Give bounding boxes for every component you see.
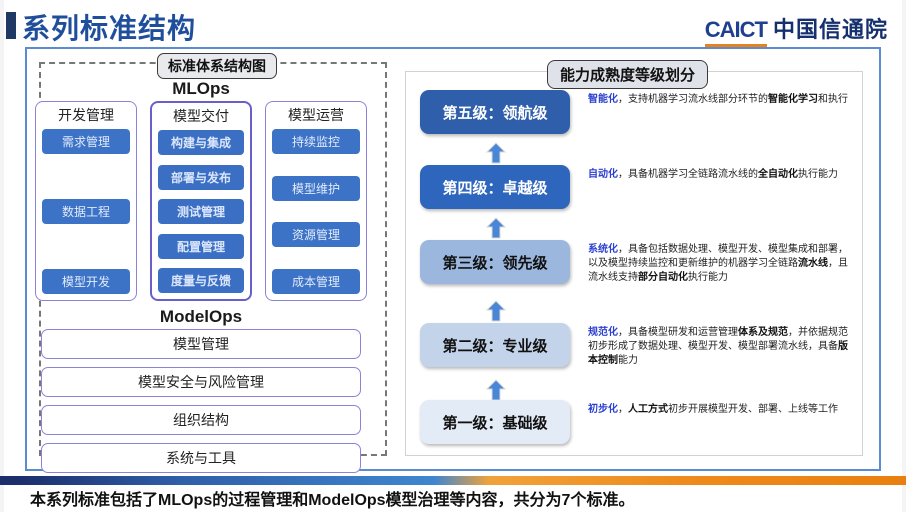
level-keyword: 智能化 [588, 94, 618, 105]
maturity-level-row-1: 第一级：基础级 初步化，人工方式初步开展模型开发、部署、上线等工作 [406, 400, 864, 444]
maturity-level-row-5: 第五级：领航级 智能化，支持机器学习流水线部分环节的智能化学习和执行 [406, 90, 864, 134]
level-desc-emph: 人工方式 [628, 404, 668, 415]
level-box-4[interactable]: 第四级：卓越级 [420, 165, 570, 209]
level-description-5: 智能化，支持机器学习流水线部分环节的智能化学习和执行 [588, 90, 850, 107]
column-title: 模型交付 [173, 106, 229, 126]
maturity-level-row-3: 第三级：领先级 系统化，具备包括数据处理、模型开发、模型集成和部署，以及模型持续… [406, 240, 864, 286]
chip-item[interactable]: 构建与集成 [158, 130, 244, 155]
column-title: 开发管理 [58, 105, 114, 125]
maturity-level-row-2: 第二级：专业级 规范化，具备模型研发和运营管理体系及规范，并依据规范初步形成了数… [406, 323, 864, 369]
content-frame: 标准体系结构图 MLOps 开发管理 需求管理 数据工程 模型开发 模型交付 构… [25, 47, 881, 471]
level-keyword: 规范化 [588, 327, 618, 338]
level-description-3: 系统化，具备包括数据处理、模型开发、模型集成和部署，以及模型持续监控和更新维护的… [588, 240, 850, 286]
level-keyword: 初步化 [588, 404, 618, 415]
logo-abbr-text: CAICT [705, 17, 767, 47]
title-accent-bar [6, 12, 16, 39]
level-box-1[interactable]: 第一级：基础级 [420, 400, 570, 444]
level-box-3[interactable]: 第三级：领先级 [420, 240, 570, 284]
chip-item[interactable]: 需求管理 [42, 129, 130, 154]
chip-item[interactable]: 度量与反馈 [158, 268, 244, 293]
level-desc-part: ，支持机器学习流水线部分环节的 [618, 94, 768, 105]
page-title: 系列标准结构 [22, 7, 196, 47]
mlops-section-title: MLOps [27, 79, 375, 99]
level-desc-part: ，具备机器学习全链路流水线的 [618, 169, 758, 180]
level-desc-emph2: 部分自动化 [638, 272, 688, 283]
level-keyword: 自动化 [588, 169, 618, 180]
level-description-4: 自动化，具备机器学习全链路流水线的全自动化执行能力 [588, 165, 850, 182]
logo-chinese-text: 中国信通院 [773, 12, 888, 44]
slide-right-edge [902, 0, 906, 512]
column-items: 构建与集成 部署与发布 测试管理 配置管理 度量与反馈 [158, 130, 244, 293]
column-title: 模型运营 [288, 105, 344, 125]
level-desc-emph: 全自动化 [758, 169, 798, 180]
chip-item[interactable]: 配置管理 [158, 234, 244, 259]
chip-item[interactable]: 模型开发 [42, 269, 130, 294]
level-desc-part: 初步开展模型开发、部署、上线等工作 [668, 404, 838, 415]
standard-system-diagram-caption: 标准体系结构图 [157, 53, 277, 79]
level-box-2[interactable]: 第二级：专业级 [420, 323, 570, 367]
chip-item[interactable]: 模型维护 [272, 176, 360, 201]
chip-item[interactable]: 持续监控 [272, 129, 360, 154]
modelops-row[interactable]: 模型安全与风险管理 [41, 367, 361, 397]
column-items: 需求管理 数据工程 模型开发 [42, 129, 130, 294]
bottom-gradient-bar [0, 476, 906, 485]
chip-item[interactable]: 测试管理 [158, 199, 244, 224]
level-desc-emph: 智能化学习 [768, 94, 818, 105]
level-desc-emph: 流水线 [798, 258, 828, 269]
level-description-2: 规范化，具备模型研发和运营管理体系及规范，并依据规范初步形成了数据处理、模型开发… [588, 323, 850, 369]
modelops-row[interactable]: 组织结构 [41, 405, 361, 435]
level-box-5[interactable]: 第五级：领航级 [420, 90, 570, 134]
level-desc-part: 和执行 [818, 94, 848, 105]
modelops-row[interactable]: 系统与工具 [41, 443, 361, 473]
maturity-levels-panel: 第五级：领航级 智能化，支持机器学习流水线部分环节的智能化学习和执行 第四级：卓… [405, 71, 863, 456]
level-desc-tail: 执行能力 [688, 272, 728, 283]
slide-root: 系列标准结构 CAICT 中国信通院 标准体系结构图 MLOps 开发管理 需求… [0, 0, 906, 512]
slide-header: 系列标准结构 CAICT 中国信通院 [0, 0, 906, 46]
level-desc-part: ，具备模型研发和运营管理 [618, 327, 738, 338]
caict-logo: CAICT 中国信通院 [705, 12, 888, 47]
level-keyword: 系统化 [588, 244, 618, 255]
mlops-columns: 开发管理 需求管理 数据工程 模型开发 模型交付 构建与集成 部署与发布 测试管… [35, 101, 367, 301]
mlops-column-model-delivery: 模型交付 构建与集成 部署与发布 测试管理 配置管理 度量与反馈 [150, 101, 252, 301]
chip-item[interactable]: 数据工程 [42, 199, 130, 224]
mlops-column-dev-management: 开发管理 需求管理 数据工程 模型开发 [35, 101, 137, 301]
maturity-level-row-4: 第四级：卓越级 自动化，具备机器学习全链路流水线的全自动化执行能力 [406, 165, 864, 209]
slide-left-edge [0, 0, 4, 512]
chip-item[interactable]: 部署与发布 [158, 165, 244, 190]
modelops-row[interactable]: 模型管理 [41, 329, 361, 359]
chip-item[interactable]: 资源管理 [272, 222, 360, 247]
chip-item[interactable]: 成本管理 [272, 269, 360, 294]
modelops-rows: 模型管理 模型安全与风险管理 组织结构 系统与工具 [41, 329, 361, 473]
bottom-banner-text: 本系列标准包括了MLOps的过程管理和ModelOps模型治理等内容，共分为7个… [0, 486, 906, 510]
mlops-column-model-operations: 模型运营 持续监控 模型维护 资源管理 成本管理 [265, 101, 367, 301]
maturity-levels-caption: 能力成熟度等级划分 [547, 60, 708, 89]
level-desc-emph: 体系及规范 [738, 327, 788, 338]
modelops-section-title: ModelOps [27, 307, 375, 327]
level-desc-part: 执行能力 [798, 169, 838, 180]
column-items: 持续监控 模型维护 资源管理 成本管理 [272, 129, 360, 294]
level-desc-tail: 能力 [618, 355, 638, 366]
level-description-1: 初步化，人工方式初步开展模型开发、部署、上线等工作 [588, 400, 850, 417]
level-desc-part: ， [618, 404, 628, 415]
